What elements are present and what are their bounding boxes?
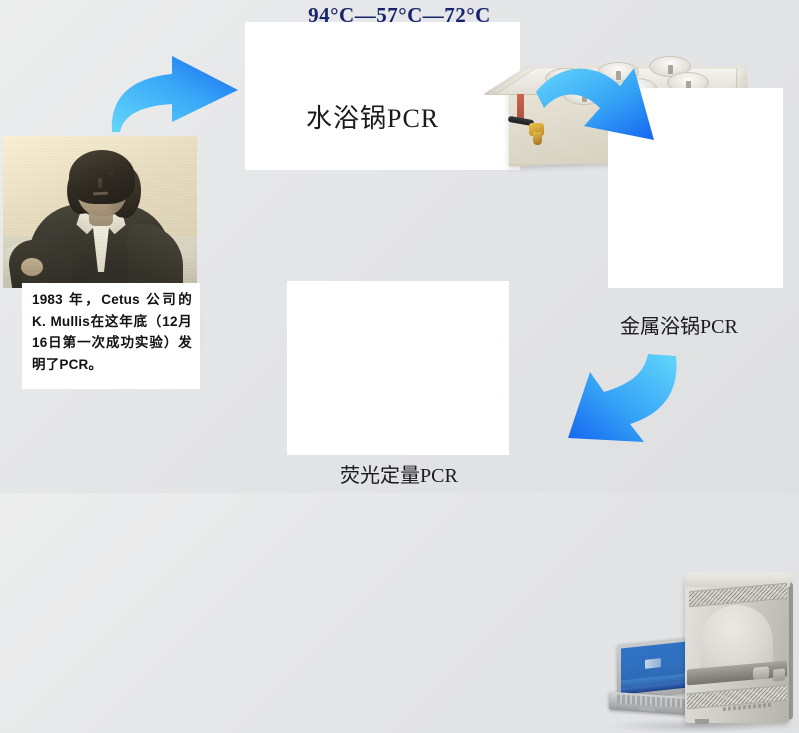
device-label-realtime: 荧光定量PCR [340,459,458,488]
photo-grain-overlay [3,136,197,288]
device-label-metal-bath: 金属浴锅PCR [620,310,738,339]
slide-canvas: 94°C—57°C—72°C 1983 年，Cetus 公司的 K. Mulli… [0,0,799,493]
arrow-2-icon [530,56,662,156]
realtime-pcr-image [287,281,509,455]
qpcr-latch [773,668,785,681]
device-label-water-bath: 水浴锅PCR [306,98,439,135]
desktop-dialog [645,658,661,669]
mullis-caption: 1983 年，Cetus 公司的 K. Mullis在这年底（12月16日第一次… [32,289,192,375]
mullis-photo [3,136,197,288]
qpcr-handle [753,666,769,679]
qpcr-foot [695,719,709,724]
arrow-1-icon [98,38,246,134]
water-bath-image [245,22,520,170]
water-bath-side-label [517,94,524,120]
arrow-3-icon [552,352,682,458]
